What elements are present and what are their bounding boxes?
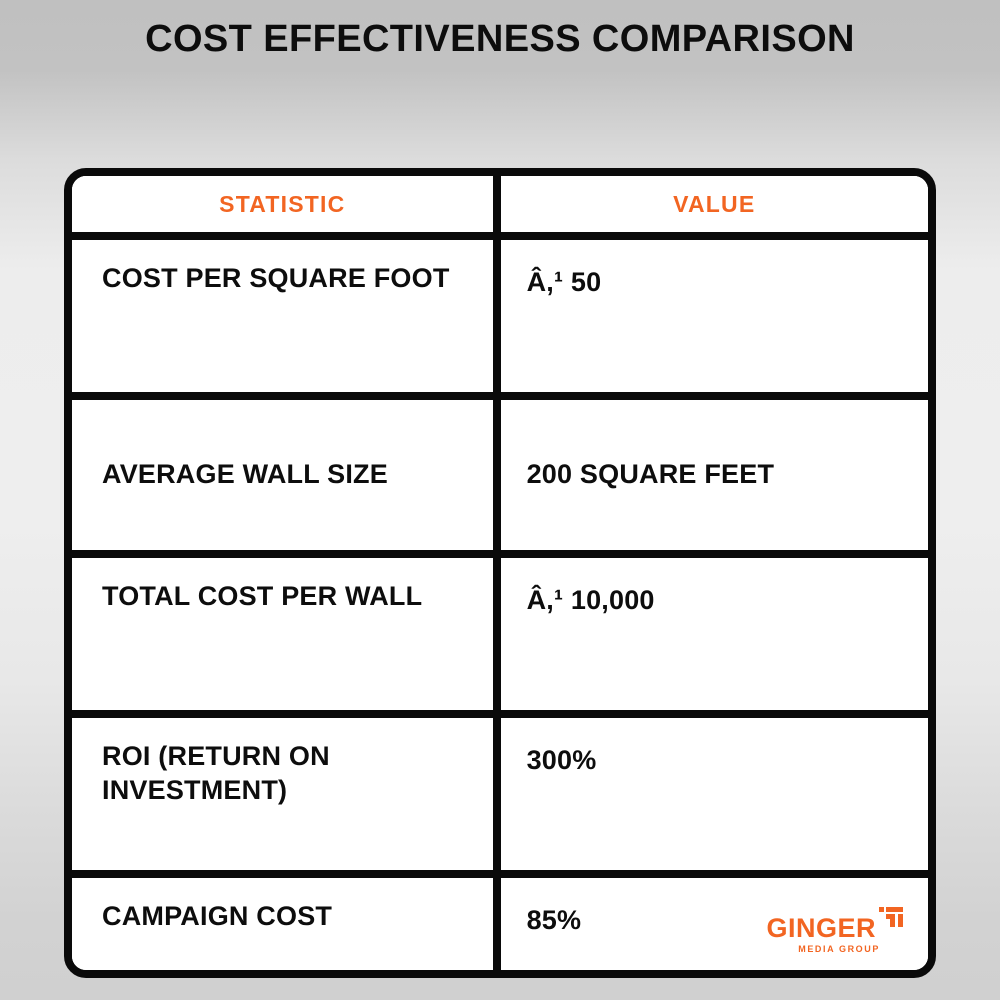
comparison-table-container: STATISTIC VALUE COST PER SQUARE FOOT Â,¹… — [64, 168, 936, 978]
table-row: COST PER SQUARE FOOT Â,¹ 50 — [72, 236, 928, 396]
statistic-label: AVERAGE WALL SIZE — [72, 458, 493, 492]
cell-value: 300% — [497, 714, 928, 874]
table-row: ROI (RETURN ON INVESTMENT) 300% — [72, 714, 928, 874]
cell-value: Â,¹ 50 — [497, 236, 928, 396]
cell-statistic: AVERAGE WALL SIZE — [72, 396, 497, 554]
statistic-label: TOTAL COST PER WALL — [72, 558, 493, 614]
cost-effectiveness-table: STATISTIC VALUE COST PER SQUARE FOOT Â,¹… — [72, 176, 928, 978]
cell-value: Â,¹ 10,000 — [497, 554, 928, 714]
value-text: 200 SQUARE FEET — [501, 458, 928, 492]
value-text: 85% — [501, 878, 928, 938]
cell-statistic: CAMPAIGN COST — [72, 874, 497, 978]
statistic-label: CAMPAIGN COST — [72, 878, 493, 934]
column-header-statistic: STATISTIC — [72, 176, 497, 236]
value-text: Â,¹ 10,000 — [501, 558, 928, 618]
page-title: COST EFFECTIVENESS COMPARISON — [0, 18, 1000, 61]
table-row: TOTAL COST PER WALL Â,¹ 10,000 — [72, 554, 928, 714]
table-row: CAMPAIGN COST 85% — [72, 874, 928, 978]
statistic-label: ROI (RETURN ON INVESTMENT) — [72, 718, 493, 808]
statistic-label: COST PER SQUARE FOOT — [72, 240, 493, 296]
cell-value: 85% — [497, 874, 928, 978]
cell-statistic: COST PER SQUARE FOOT — [72, 236, 497, 396]
value-text: Â,¹ 50 — [501, 240, 928, 300]
table-row: AVERAGE WALL SIZE 200 SQUARE FEET — [72, 396, 928, 554]
infographic-page: COST EFFECTIVENESS COMPARISON STATISTIC … — [0, 0, 1000, 1000]
cell-value: 200 SQUARE FEET — [497, 396, 928, 554]
cell-statistic: TOTAL COST PER WALL — [72, 554, 497, 714]
table-header-row: STATISTIC VALUE — [72, 176, 928, 236]
column-header-value: VALUE — [497, 176, 928, 236]
value-text: 300% — [501, 718, 928, 778]
cell-statistic: ROI (RETURN ON INVESTMENT) — [72, 714, 497, 874]
